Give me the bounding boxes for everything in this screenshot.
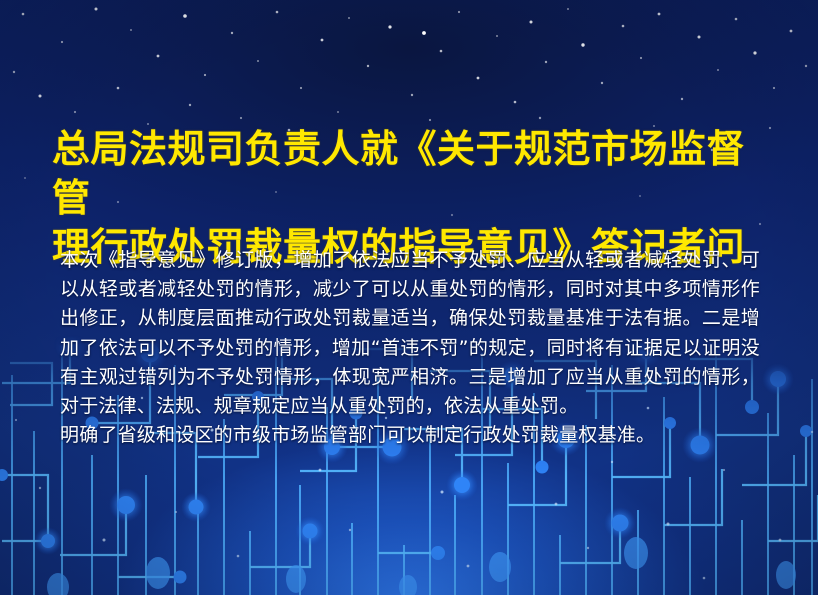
- paragraph-1: 本次《指导意见》修订版，增加了依法应当不予处罚、应当从轻或者减轻处罚、可以从轻或…: [60, 246, 760, 421]
- article-body: 本次《指导意见》修订版，增加了依法应当不予处罚、应当从轻或者减轻处罚、可以从轻或…: [60, 246, 760, 450]
- poster-canvas: 总局法规司负责人就《关于规范市场监督管 理行政处罚裁量权的指导意见》答记者问 本…: [0, 0, 818, 595]
- paragraph-2: 明确了省级和设区的市级市场监管部门可以制定行政处罚裁量权基准。: [60, 421, 760, 450]
